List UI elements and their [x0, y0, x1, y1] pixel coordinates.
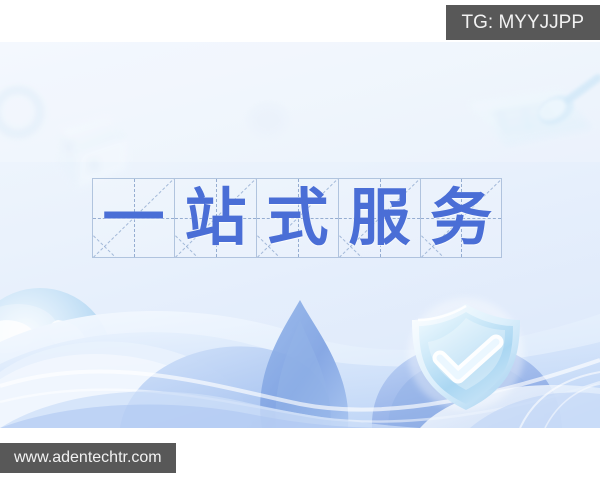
shield-check-icon — [408, 298, 524, 410]
page-root: 一 站 式 服 — [0, 0, 600, 480]
website-watermark-badge: www.adentechtr.com — [0, 443, 176, 473]
headline-character: 务 — [421, 179, 501, 257]
headline-character: 服 — [339, 179, 420, 257]
headline-character-grid: 一 站 式 服 — [92, 178, 502, 258]
grid-cell: 务 — [420, 178, 502, 258]
headline-character: 式 — [257, 179, 338, 257]
telegram-watermark-badge: TG: MYYJJPP — [446, 5, 600, 40]
grid-cell: 一 — [92, 178, 174, 258]
grid-cell: 式 — [256, 178, 338, 258]
banner-image: 一 站 式 服 — [0, 42, 600, 428]
headline-character: 一 — [93, 179, 174, 257]
grid-cell: 站 — [174, 178, 256, 258]
headline-character: 站 — [175, 179, 256, 257]
grid-cell: 服 — [338, 178, 420, 258]
